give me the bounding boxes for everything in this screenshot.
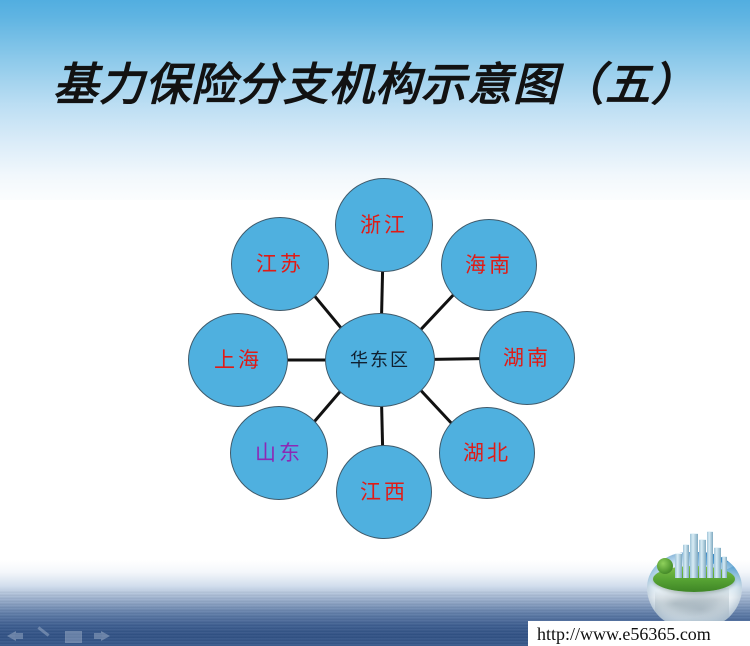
presentation-slide: 基力保险分支机构示意图（五） 华东区浙江海南湖南湖北江西山东上海江苏 http:… bbox=[0, 0, 750, 646]
pen-icon[interactable] bbox=[35, 629, 53, 643]
prev-slide-icon[interactable] bbox=[6, 629, 24, 643]
diagram-node-branch-7[interactable]: 江苏 bbox=[231, 217, 329, 311]
diagram-node-branch-0[interactable]: 浙江 bbox=[335, 178, 433, 272]
diagram-node-label: 上海 bbox=[214, 349, 262, 371]
diagram-node-label: 华东区 bbox=[350, 349, 410, 371]
connector-line bbox=[433, 359, 481, 360]
diagram-node-center[interactable]: 华东区 bbox=[325, 313, 435, 407]
diagram-node-branch-6[interactable]: 上海 bbox=[188, 313, 288, 407]
next-slide-icon[interactable] bbox=[93, 629, 111, 643]
website-url-text[interactable]: http://www.e56365.com bbox=[537, 624, 711, 644]
diagram-node-branch-4[interactable]: 江西 bbox=[336, 445, 432, 539]
diagram-node-branch-5[interactable]: 山东 bbox=[230, 406, 328, 500]
diagram-node-branch-3[interactable]: 湖北 bbox=[439, 407, 535, 499]
connector-line bbox=[420, 390, 452, 425]
diagram-node-label: 山东 bbox=[255, 442, 303, 464]
website-url-bar: http://www.e56365.com bbox=[528, 621, 750, 646]
diagram-node-label: 湖北 bbox=[463, 442, 511, 464]
city-skyline-icon bbox=[675, 532, 727, 578]
diagram-node-branch-2[interactable]: 湖南 bbox=[479, 311, 575, 405]
connector-line bbox=[382, 405, 383, 447]
globe-city-logo bbox=[645, 520, 745, 620]
slide-menu-icon[interactable] bbox=[64, 629, 82, 643]
tree-icon bbox=[657, 558, 673, 574]
diagram-node-label: 江苏 bbox=[256, 253, 304, 275]
diagram-node-branch-1[interactable]: 海南 bbox=[441, 219, 537, 311]
slideshow-navigation-widgets[interactable] bbox=[6, 629, 111, 643]
diagram-node-label: 海南 bbox=[465, 254, 513, 276]
diagram-node-label: 湖南 bbox=[503, 347, 551, 369]
diagram-node-label: 江西 bbox=[360, 481, 408, 503]
org-structure-diagram: 华东区浙江海南湖南湖北江西山东上海江苏 bbox=[0, 0, 750, 646]
connector-line bbox=[420, 294, 454, 331]
connector-line bbox=[382, 270, 383, 315]
diagram-node-label: 浙江 bbox=[360, 214, 408, 236]
connector-line bbox=[314, 390, 341, 422]
connector-line bbox=[314, 295, 342, 329]
